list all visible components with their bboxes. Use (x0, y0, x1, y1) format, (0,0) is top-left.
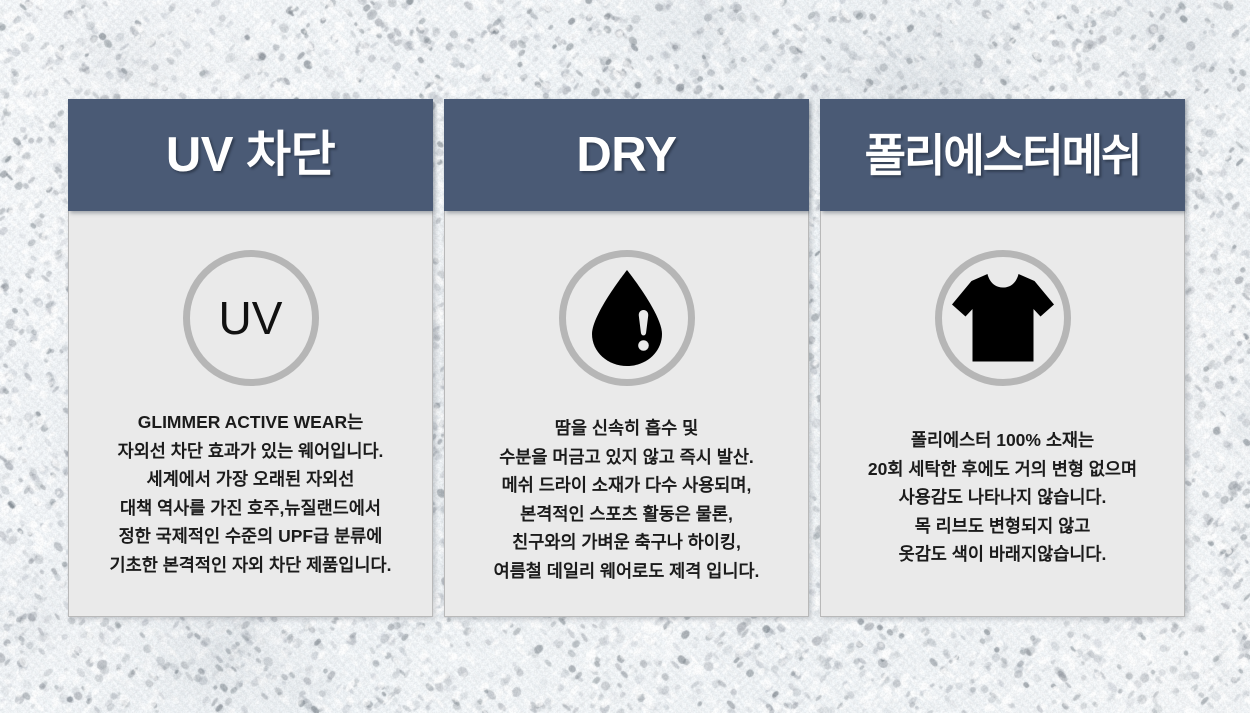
card-title-uv: UV 차단 (166, 131, 335, 180)
water-droplet-icon (586, 268, 668, 368)
card-description-polyester-mesh: 폴리에스터 100% 소재는 20회 세탁한 후에도 거의 변형 없으며 사용감… (821, 426, 1184, 569)
water-droplet-icon-ring (559, 250, 695, 386)
feature-card-uv: UV 차단 UV GLIMMER ACTIVE WEAR는 자외선 차단 효과가… (68, 99, 433, 617)
uv-circle-icon: UV (183, 250, 319, 386)
tshirt-icon (951, 273, 1055, 363)
card-header-polyester-mesh: 폴리에스터메쉬 (820, 99, 1185, 211)
card-title-dry: DRY (576, 131, 676, 180)
card-title-polyester-mesh: 폴리에스터메쉬 (865, 133, 1141, 178)
feature-card-dry: DRY 땀을 신속히 흡수 및 수분을 머금고 있지 않고 즉시 발산. 메쉬 … (444, 99, 809, 617)
card-description-uv: GLIMMER ACTIVE WEAR는 자외선 차단 효과가 있는 웨어입니다… (69, 408, 432, 579)
card-description-dry: 땀을 신속히 흡수 및 수분을 머금고 있지 않고 즉시 발산. 메쉬 드라이 … (445, 414, 808, 585)
card-body-polyester-mesh: 폴리에스터 100% 소재는 20회 세탁한 후에도 거의 변형 없으며 사용감… (820, 211, 1185, 617)
uv-icon-label: UV (219, 295, 283, 341)
feature-card-row: UV 차단 UV GLIMMER ACTIVE WEAR는 자외선 차단 효과가… (0, 0, 1250, 713)
card-body-uv: UV GLIMMER ACTIVE WEAR는 자외선 차단 효과가 있는 웨어… (68, 211, 433, 617)
card-body-dry: 땀을 신속히 흡수 및 수분을 머금고 있지 않고 즉시 발산. 메쉬 드라이 … (444, 211, 809, 617)
feature-card-polyester-mesh: 폴리에스터메쉬 폴리에스터 100% 소재는 20회 세탁한 후에도 거의 변형… (820, 99, 1185, 617)
tshirt-icon-ring (935, 250, 1071, 386)
card-header-uv: UV 차단 (68, 99, 433, 211)
card-header-dry: DRY (444, 99, 809, 211)
